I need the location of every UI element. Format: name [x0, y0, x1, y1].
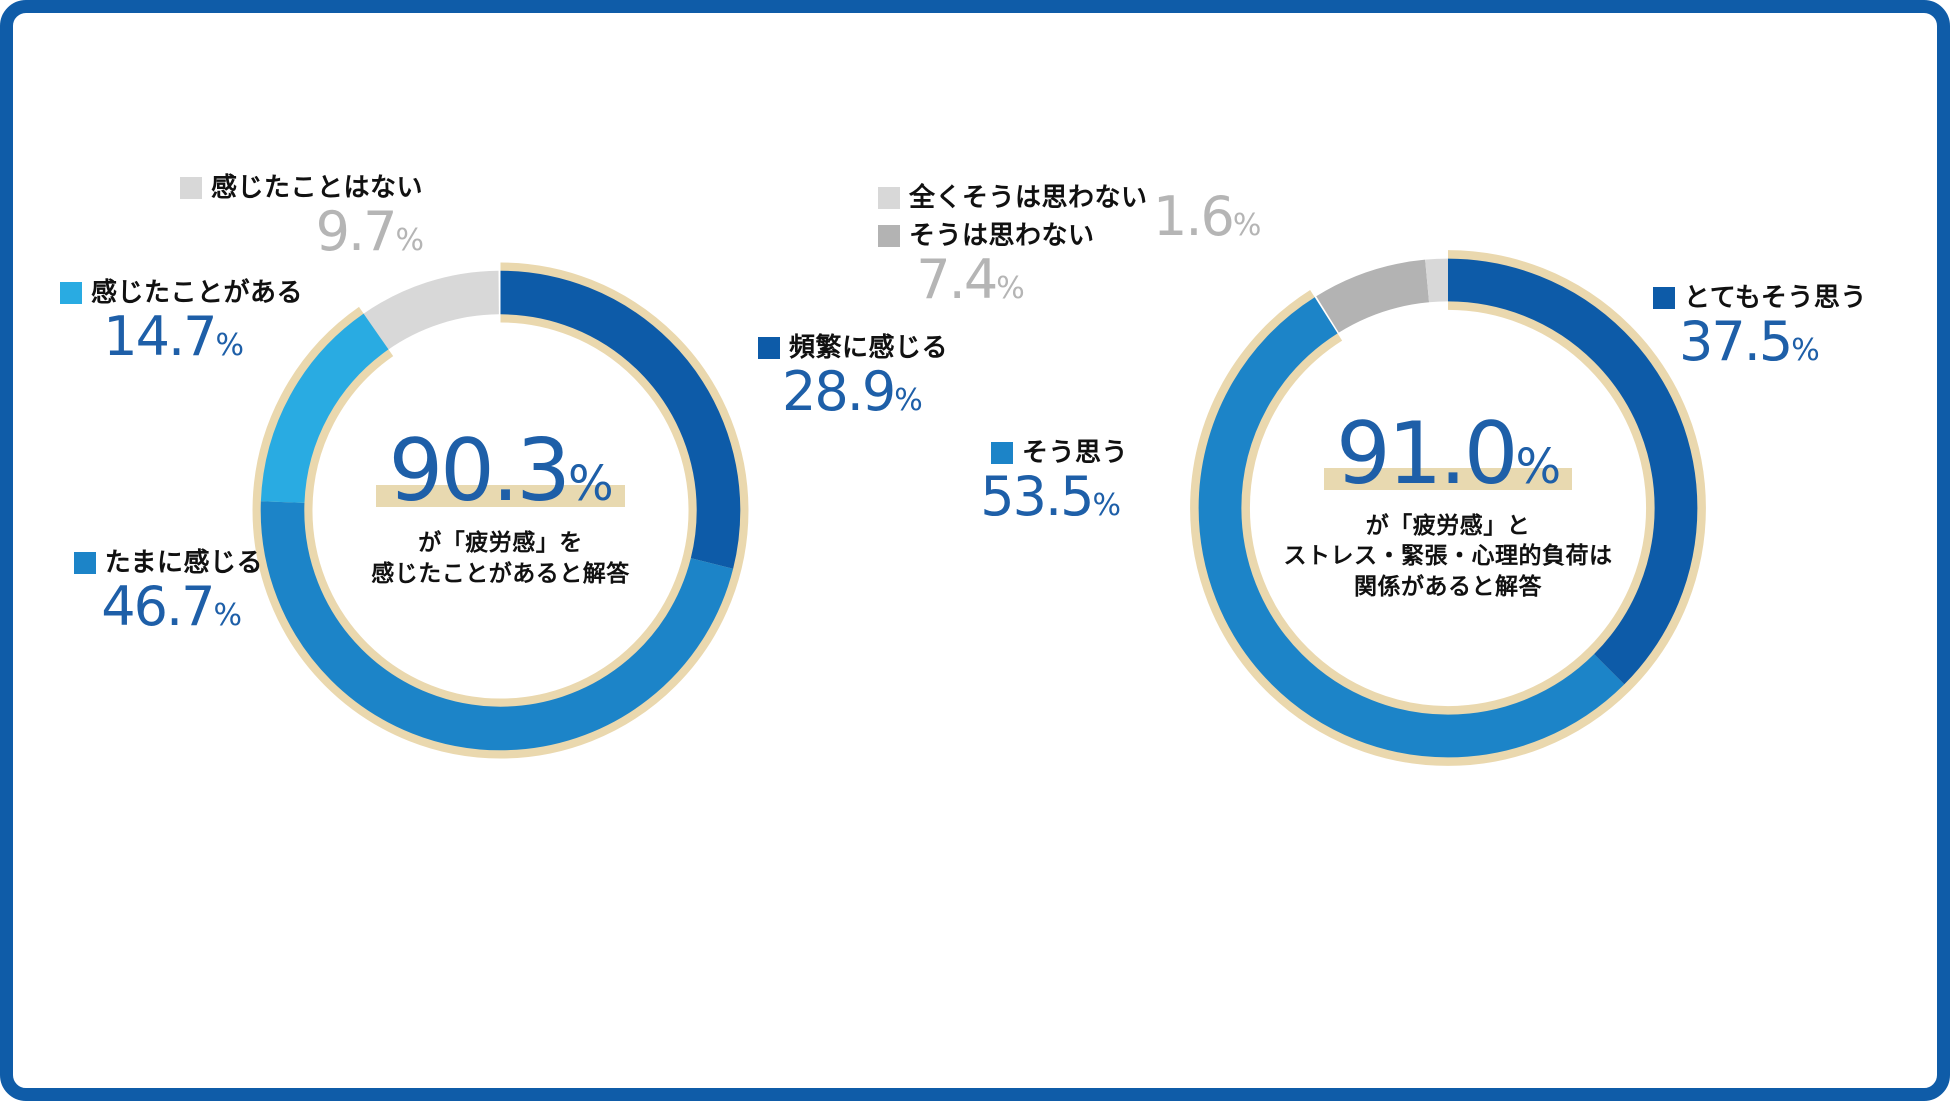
legend-right-top2-row: そうは思わない — [878, 221, 1308, 251]
legend-swatch-icon-dark-blue — [758, 337, 780, 359]
legend-right-left-name: そう思う — [1022, 438, 1128, 468]
legend-left-right-name: 頻繁に感じる — [789, 333, 948, 363]
legend-left-upperleft-row: 感じたことがある — [23, 278, 303, 308]
legend-left-top: 感じたことはない 9.7% — [53, 173, 423, 259]
legend-right-right-value-suffix: % — [1791, 333, 1819, 368]
legend-right-top1-name: 全くそうは思わない — [909, 183, 1148, 213]
legend-right-right-value: 37.5% — [1653, 315, 1950, 369]
legend-right-right-row: とてもそう思う — [1653, 283, 1950, 313]
legend-left-lowerleft-value-suffix: % — [213, 598, 241, 633]
legend-swatch-icon-light-grey — [878, 187, 900, 209]
donut-svg-left — [228, 238, 773, 783]
donut-ring-left: 90.3% が「疲労感」を 感じたことがあると解答 — [228, 238, 773, 783]
legend-swatch-icon-grey — [180, 177, 202, 199]
legend-left-lowerleft-value-number: 46.7 — [101, 575, 213, 638]
legend-left-top-value-number: 9.7 — [316, 200, 396, 263]
legend-left-top-value: 9.7% — [53, 205, 423, 259]
legend-right-right-name: とてもそう思う — [1684, 283, 1867, 313]
legend-right-top2-name: そうは思わない — [909, 221, 1095, 251]
legend-left-right: 頻繁に感じる 28.9% — [758, 333, 988, 419]
legend-left-right-value-number: 28.9 — [782, 360, 894, 423]
legend-left-lowerleft-value: 46.7% — [23, 580, 263, 634]
legend-left-upperleft-value: 14.7% — [23, 310, 303, 364]
donut-svg-right — [1163, 223, 1733, 793]
legend-right-top2-value-number: 7.4 — [916, 248, 996, 311]
legend-right-top2-value-suffix: % — [996, 271, 1024, 306]
legend-right-right-value-number: 37.5 — [1679, 310, 1791, 373]
donut-chart-fatigue-experience: 90.3% が「疲労感」を 感じたことがあると解答 感じたことはない 9.7% … — [13, 13, 988, 1114]
legend-left-right-value: 28.9% — [758, 365, 988, 419]
legend-right-top2: そうは思わない 7.4% — [878, 221, 1308, 307]
legend-left-upperleft-value-suffix: % — [215, 328, 243, 363]
legend-right-left-value-suffix: % — [1092, 488, 1120, 523]
legend-left-lowerleft: たまに感じる 46.7% — [23, 548, 263, 634]
legend-left-lowerleft-name: たまに感じる — [105, 548, 263, 578]
legend-swatch-icon-mid-blue-2 — [991, 442, 1013, 464]
legend-swatch-icon-dark-blue-2 — [1653, 287, 1675, 309]
legend-left-right-row: 頻繁に感じる — [758, 333, 988, 363]
legend-right-left: そう思う 53.5% — [818, 438, 1128, 524]
donut-ring-right: 91.0% が「疲労感」と ストレス・緊張・心理的負荷は 関係があると解答 — [1163, 223, 1733, 793]
legend-swatch-icon-grey-2 — [878, 225, 900, 247]
legend-swatch-icon-mid-blue — [74, 552, 96, 574]
legend-left-top-value-suffix: % — [395, 223, 423, 258]
legend-left-upperleft: 感じたことがある 14.7% — [23, 278, 303, 364]
legend-swatch-icon-light-blue — [60, 282, 82, 304]
legend-right-left-row: そう思う — [818, 438, 1128, 468]
legend-right-left-value: 53.5% — [818, 470, 1128, 524]
page-frame: 90.3% が「疲労感」を 感じたことがあると解答 感じたことはない 9.7% … — [0, 0, 1950, 1101]
legend-left-upperleft-name: 感じたことがある — [91, 278, 303, 308]
legend-right-right: とてもそう思う 37.5% — [1653, 283, 1950, 369]
legend-left-top-name: 感じたことはない — [211, 173, 423, 203]
donut-chart-fatigue-stress-relation: 91.0% が「疲労感」と ストレス・緊張・心理的負荷は 関係があると解答 全く… — [988, 13, 1950, 1114]
legend-left-lowerleft-row: たまに感じる — [23, 548, 263, 578]
legend-right-top2-value: 7.4% — [830, 253, 1110, 307]
legend-left-right-value-suffix: % — [894, 383, 922, 418]
legend-left-upperleft-value-number: 14.7 — [103, 305, 215, 368]
legend-left-top-row: 感じたことはない — [53, 173, 423, 203]
legend-right-left-value-number: 53.5 — [980, 465, 1092, 528]
